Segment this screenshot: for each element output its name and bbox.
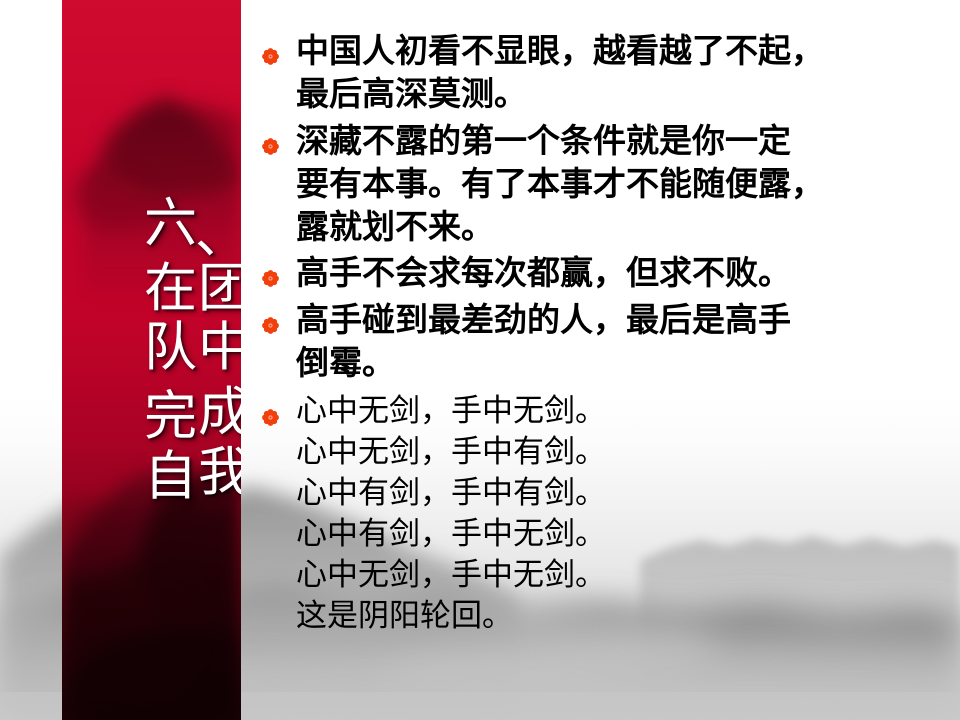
- slide-canvas: 六 、 在 团 队 中 完 成 自 我: [0, 0, 960, 720]
- title-char: 自: [144, 450, 197, 503]
- list-item: 深藏不露的第一个条件就是你一定 要有本事。有了本事才不能随便露， 露就划不来。: [262, 120, 952, 249]
- list-item: 心中无剑，手中无剑。 心中无剑，手中有剑。 心中有剑，手中有剑。 心中有剑，手中…: [262, 391, 952, 636]
- vertical-title: 六 、 在 团 队 中 完 成 自 我: [62, 0, 241, 720]
- title-char: 完: [144, 390, 197, 443]
- title-char: 我: [198, 446, 241, 499]
- list-item-text: 心中无剑，手中无剑。 心中无剑，手中有剑。 心中有剑，手中有剑。 心中有剑，手中…: [296, 391, 952, 636]
- flower-bullet-icon: [262, 30, 296, 65]
- flower-bullet-icon: [262, 120, 296, 155]
- title-char: 成: [198, 386, 241, 439]
- content-body: 中国人初看不显眼，越看越了不起， 最后高深莫测。 深藏不露的第一个条件就是你一定…: [262, 30, 952, 641]
- list-item-text: 高手不会求每次都赢，但求不败。: [296, 252, 952, 295]
- title-char: 中: [198, 321, 241, 374]
- list-item-text: 高手碰到最差劲的人，最后是高手 倒霉。: [296, 299, 952, 385]
- list-item-text: 中国人初看不显眼，越看越了不起， 最后高深莫测。: [296, 30, 952, 116]
- title-char: 六: [144, 197, 197, 250]
- flower-bullet-icon: [262, 299, 296, 334]
- list-item: 中国人初看不显眼，越看越了不起， 最后高深莫测。: [262, 30, 952, 116]
- flower-bullet-icon: [262, 391, 296, 426]
- title-char: 在: [144, 262, 197, 315]
- title-char: 队: [144, 321, 197, 374]
- list-item: 高手不会求每次都赢，但求不败。: [262, 252, 952, 295]
- title-char: 团: [198, 262, 241, 315]
- title-panel: 六 、 在 团 队 中 完 成 自 我: [62, 0, 241, 720]
- list-item-text: 深藏不露的第一个条件就是你一定 要有本事。有了本事才不能随便露， 露就划不来。: [296, 120, 952, 249]
- flower-bullet-icon: [262, 252, 296, 287]
- list-item: 高手碰到最差劲的人，最后是高手 倒霉。: [262, 299, 952, 385]
- title-char: 、: [195, 208, 241, 261]
